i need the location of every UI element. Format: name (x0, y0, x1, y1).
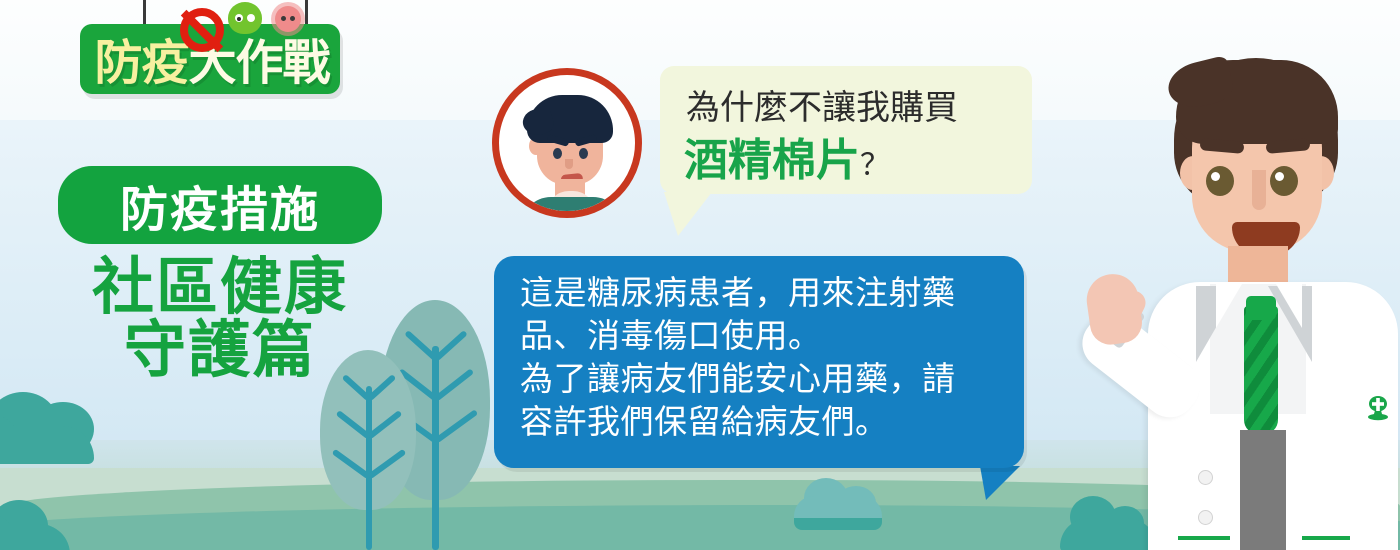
pharmacist-necktie (1244, 306, 1278, 434)
question-bubble: 為什麼不讓我購買 酒精棉片？ (660, 66, 1032, 194)
pharmacist-coat-pocket-left (1178, 536, 1230, 540)
germ-pupil (237, 17, 241, 21)
page-title-line2: 守護篇 (40, 319, 400, 382)
pharmacist-coat-pocket-right (1302, 536, 1350, 540)
pharmacist-trousers (1240, 430, 1286, 550)
avatar-nose (565, 159, 573, 169)
pharmacist-eye-right (1270, 166, 1298, 196)
pharmacist-eye-left (1206, 166, 1234, 196)
measure-badge: 防疫措施 (58, 166, 382, 244)
question-highlight-term: 酒精棉片 (684, 136, 860, 185)
answer-line: 為了讓病友們能安心用藥，請 (520, 358, 1008, 401)
pharmacy-emblem-badge-icon (1362, 392, 1394, 426)
pharmacist-eye-highlight-right (1275, 172, 1284, 181)
pharmacist-eye-highlight-left (1211, 172, 1220, 181)
answer-line: 品、消毒傷口使用。 (520, 315, 1008, 358)
logo-title-part1: 防疫 (94, 23, 188, 93)
avatar-eye-left (553, 148, 562, 159)
bush-base (0, 426, 94, 464)
question-line1: 為什麼不讓我購買 (686, 80, 958, 129)
answer-line: 這是糖尿病患者，用來注射藥 (520, 272, 1008, 315)
pharmacist-nose (1252, 170, 1266, 210)
avatar-eye-right (579, 148, 588, 159)
answer-text: 這是糖尿病患者，用來注射藥 品、消毒傷口使用。 為了讓病友們能安心用藥，請 容許… (520, 272, 1008, 444)
bush-left-lower (0, 500, 140, 550)
measure-badge-label: 防疫措施 (120, 170, 320, 240)
page-title-line1: 社區健康 (40, 256, 400, 319)
pharmacist-coat-button (1198, 470, 1213, 485)
angry-customer-avatar (492, 68, 642, 218)
page-title: 社區健康 守護篇 (40, 256, 400, 382)
pharmacist-coat-button (1198, 510, 1213, 525)
tree-trunk (432, 346, 439, 550)
answer-bubble: 這是糖尿病患者，用來注射藥 品、消毒傷口使用。 為了讓病友們能安心用藥，請 容許… (494, 256, 1024, 468)
answer-line: 容許我們保留給病友們。 (520, 401, 1008, 444)
green-germ-icon (228, 2, 262, 34)
question-bubble-tail (664, 192, 712, 236)
pharmacist-collar-left (1216, 284, 1242, 328)
health-promotion-banner: 防疫大作戰 防疫措施 社區健康 守護篇 為什麼不讓我購買 酒精棉片？ (0, 0, 1400, 550)
pharmacist-necktie-knot (1246, 296, 1276, 320)
pink-virus-icon (275, 6, 301, 32)
bush-center (790, 478, 930, 538)
germ-pupil (249, 17, 253, 21)
question-mark: ？ (860, 149, 890, 182)
tree-trunk (366, 386, 372, 550)
bush-left-upper (0, 392, 170, 472)
bush-shadow (794, 518, 882, 530)
question-line2: 酒精棉片？ (684, 124, 890, 188)
bush-base (0, 524, 70, 550)
answer-bubble-tail (980, 466, 1020, 500)
pharmacist-collar-right (1276, 284, 1302, 328)
pharmacist-character (1070, 40, 1400, 550)
